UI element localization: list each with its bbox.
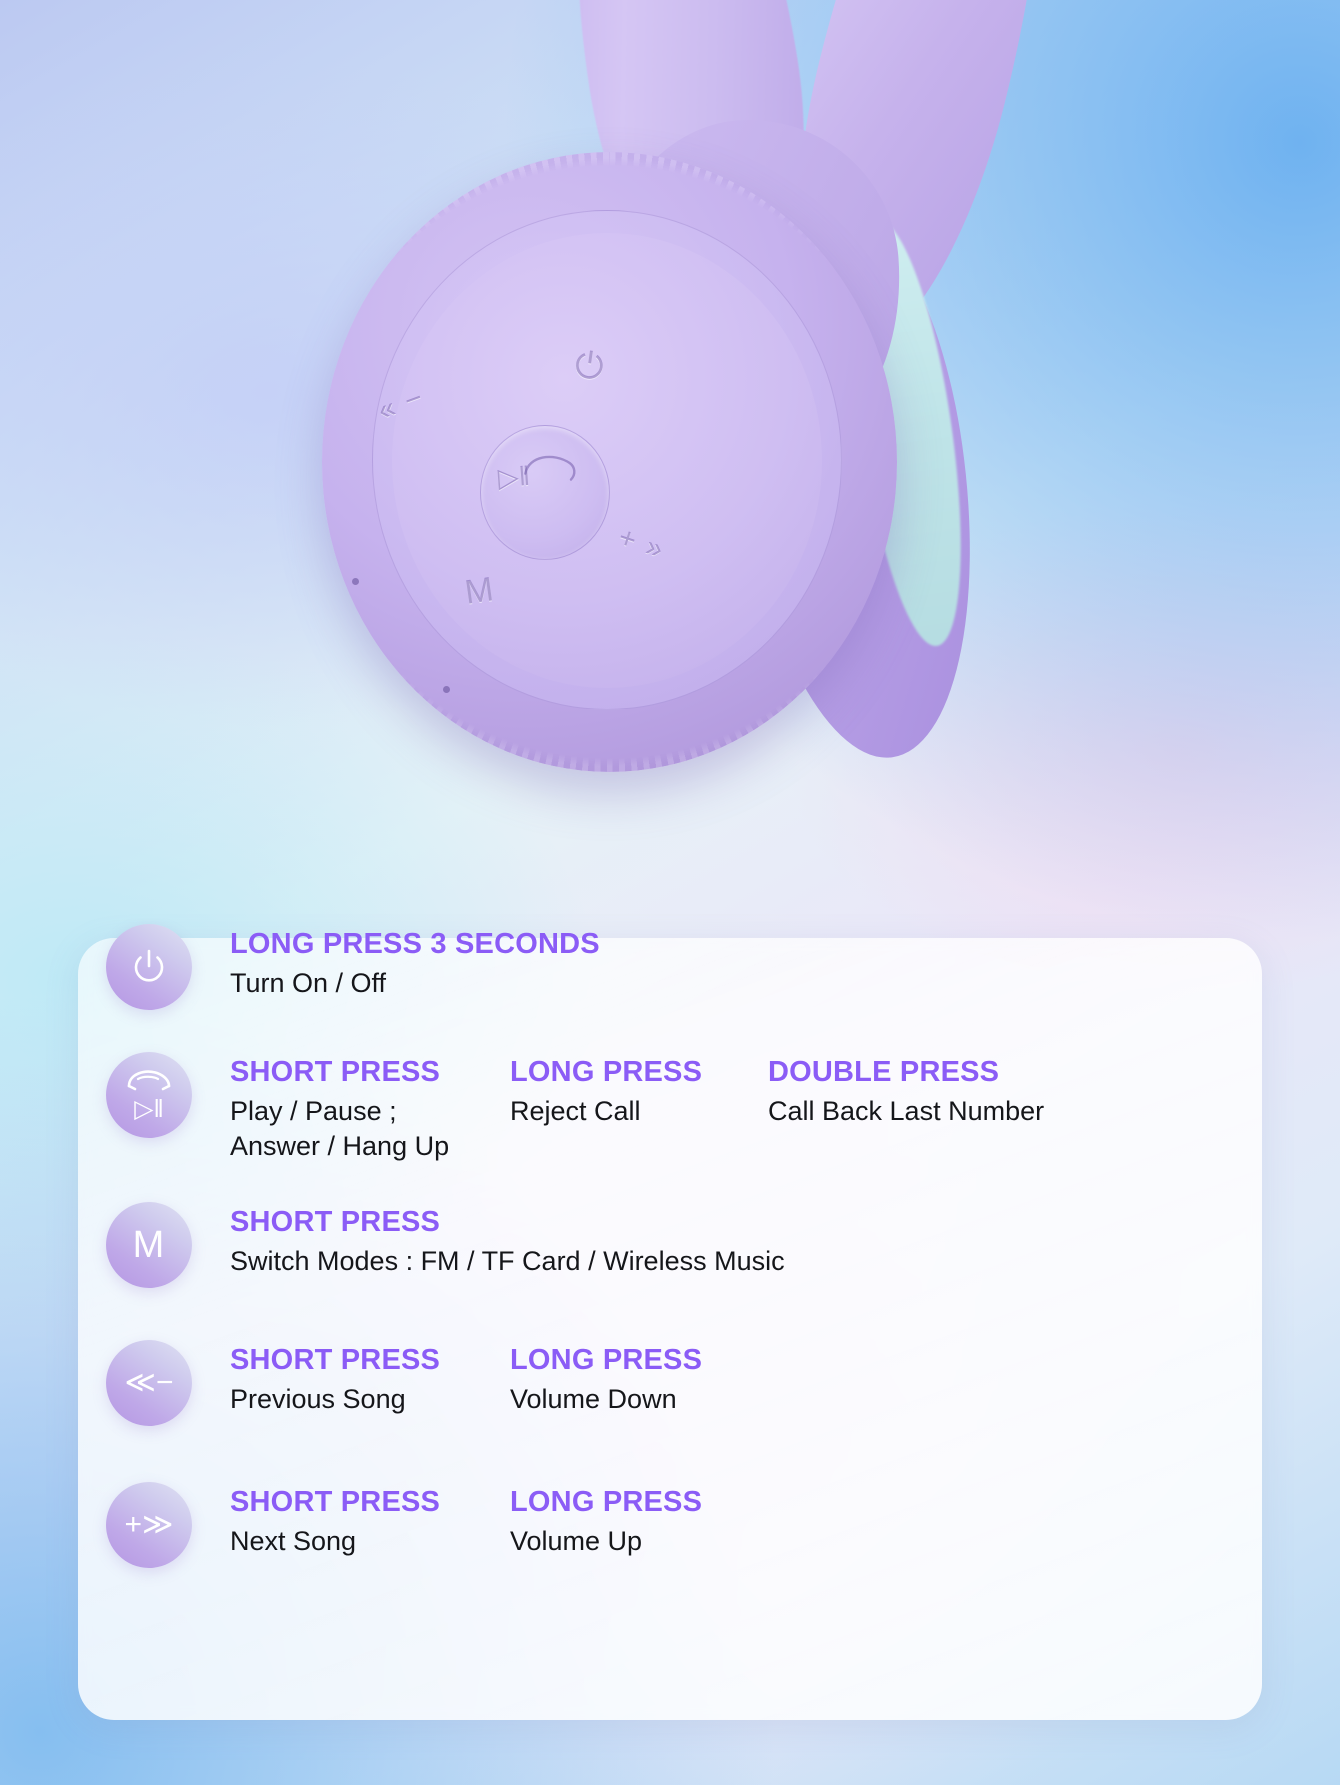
instruction-row-next: +≫ SHORT PRESS Next Song LONG PRESS Volu… [106,1482,702,1568]
instruction-col: SHORT PRESS Previous Song [230,1344,510,1417]
instruction-col: LONG PRESS Volume Down [510,1344,702,1417]
instruction-row-mode: M SHORT PRESS Switch Modes : FM / TF Car… [106,1202,785,1288]
earcup-power-icon: ⏻ [572,343,606,390]
button-instructions-card: LONG PRESS 3 SECONDS Turn On / Off ▷‖ [78,938,1262,1720]
press-action-label: Call Back Last Number [768,1094,1044,1129]
instruction-col: SHORT PRESS Switch Modes : FM / TF Card … [230,1206,785,1279]
instruction-row-power: LONG PRESS 3 SECONDS Turn On / Off [106,924,600,1010]
press-action-label: Switch Modes : FM / TF Card / Wireless M… [230,1244,785,1279]
instruction-col: SHORT PRESS Next Song [230,1486,510,1559]
mode-m-icon: M [106,1202,192,1288]
instruction-col: LONG PRESS Reject Call [510,1056,768,1163]
earcup-mode-icon: M [462,570,495,613]
call-play-pause-icon: ▷‖ [106,1052,192,1138]
press-type-label: DOUBLE PRESS [768,1056,1044,1089]
press-type-label: SHORT PRESS [230,1206,785,1239]
next-glyph: +≫ [125,1510,174,1540]
power-icon [106,924,192,1010]
play-pause-glyph: ▷‖ [134,1097,164,1122]
press-action-label: Previous Song [230,1382,510,1417]
instruction-row-call-play: ▷‖ SHORT PRESS Play / Pause ; Answer / H… [106,1052,1044,1163]
instruction-col: LONG PRESS 3 SECONDS Turn On / Off [230,928,600,1001]
press-action-label: Next Song [230,1524,510,1559]
instruction-col: LONG PRESS Volume Up [510,1486,702,1559]
instruction-row-previous: ≪− SHORT PRESS Previous Song LONG PRESS … [106,1340,702,1426]
earcup-faceplate-inner [392,233,822,688]
press-type-label: SHORT PRESS [230,1344,510,1377]
press-action-label: Volume Down [510,1382,702,1417]
infographic-page: ⏻ « − + » M ▷‖ LONG PRESS 3 SECON [0,0,1340,1785]
microphone-hole-bottom [443,686,450,693]
press-type-label: SHORT PRESS [230,1056,510,1089]
press-action-label: Play / Pause ; Answer / Hang Up [230,1094,510,1163]
next-volume-up-icon: +≫ [106,1482,192,1568]
press-type-label: LONG PRESS [510,1486,702,1519]
press-action-label: Turn On / Off [230,966,600,1001]
press-type-label: LONG PRESS [510,1344,702,1377]
press-action-label: Reject Call [510,1094,768,1129]
press-type-label: SHORT PRESS [230,1486,510,1519]
microphone-hole-top [352,578,359,585]
instruction-col: SHORT PRESS Play / Pause ; Answer / Hang… [230,1056,510,1163]
hangup-phone-icon [125,1068,173,1092]
mode-m-letter: M [133,1226,166,1264]
previous-glyph: ≪− [125,1368,174,1398]
headphone-product-photo: ⏻ « − + » M ▷‖ [0,0,1340,860]
instruction-col: DOUBLE PRESS Call Back Last Number [768,1056,1044,1163]
press-type-label: LONG PRESS [510,1056,768,1089]
press-action-label: Volume Up [510,1524,702,1559]
press-type-label: LONG PRESS 3 SECONDS [230,928,600,961]
previous-volume-down-icon: ≪− [106,1340,192,1426]
